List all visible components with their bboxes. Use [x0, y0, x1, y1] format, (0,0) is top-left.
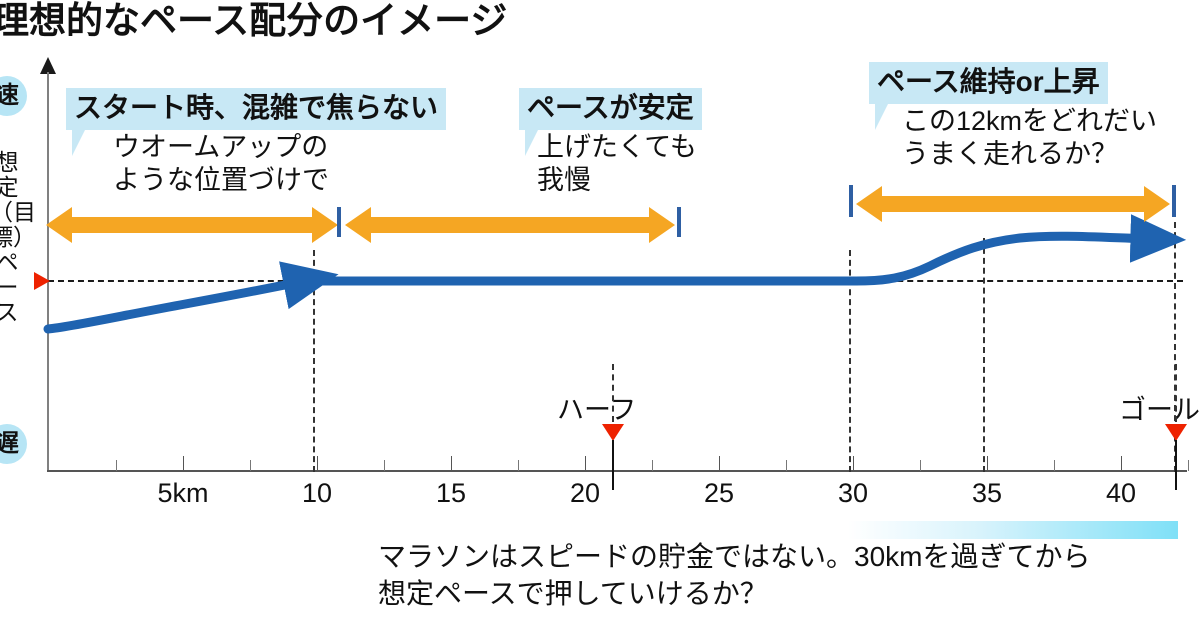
- x-axis-minor-tick: [786, 460, 787, 471]
- callout-maintain-body: この12kmをどれだい うまく走れるか？: [902, 105, 1200, 171]
- pace-chart-infographic: 理想的なペース配分のイメージ 速 遅 想定（目標）ペース 5km10152025…: [0, 0, 1200, 630]
- x-axis-tick: [451, 456, 452, 472]
- marker-stem-half: [612, 440, 614, 490]
- axis-badge-slow: 遅: [0, 424, 27, 464]
- x-axis-tick-label: 40: [1076, 478, 1166, 509]
- x-axis-tick: [317, 456, 318, 472]
- range-cap-goal: [1172, 185, 1176, 217]
- x-axis-tick-label: 5km: [138, 478, 228, 509]
- x-axis-minor-tick: [1188, 460, 1189, 471]
- marker-label-half: ハーフ: [557, 388, 636, 427]
- range-arrow-30km-to-goal: [856, 184, 1170, 224]
- x-axis-tick: [719, 456, 720, 472]
- callout-stable-body: 上げたくても 我慢: [537, 131, 697, 197]
- range-arrow-10km-to-23km: [345, 205, 675, 245]
- x-axis-tick: [183, 456, 184, 472]
- target-pace-marker-icon: [34, 272, 50, 290]
- callout-maintain-tail-icon: [875, 104, 888, 130]
- x-axis-tick-label: 10: [272, 478, 362, 509]
- x-axis-minor-tick: [384, 460, 385, 471]
- callout-start-body: ウオームアップの ような位置づけで: [113, 131, 329, 197]
- marker-stem-goal: [1175, 440, 1177, 490]
- x-axis-tick-label: 30: [808, 478, 898, 509]
- x-axis-minor-tick: [116, 460, 117, 471]
- page-title: 理想的なペース配分のイメージ: [0, 0, 692, 44]
- guide-10km: [313, 250, 315, 472]
- range-cap-30km: [849, 185, 853, 217]
- gradient-accent-bar: [848, 521, 1178, 539]
- chart-caption: マラソンはスピードの貯金ではない。30kmを過ぎてから 想定ペースで押していける…: [378, 538, 1200, 612]
- x-axis-minor-tick: [652, 460, 653, 471]
- callout-maintain-heading: ペース維持or上昇: [869, 62, 1108, 104]
- x-axis-tick: [853, 456, 854, 472]
- x-axis-minor-tick: [250, 460, 251, 471]
- x-axis-tick-label: 25: [674, 478, 764, 509]
- x-axis-minor-tick: [920, 460, 921, 471]
- range-cap-10km: [337, 207, 341, 237]
- axis-badge-fast: 速: [0, 76, 27, 116]
- callout-stable-heading: ペースが安定: [519, 88, 702, 130]
- guide-35km: [983, 238, 985, 472]
- callout-start-tail-icon: [72, 130, 85, 156]
- marker-label-goal: ゴール: [1119, 388, 1200, 427]
- x-axis-tick-label: 20: [540, 478, 630, 509]
- x-axis-minor-tick: [1054, 460, 1055, 471]
- x-axis-tick-label: 15: [406, 478, 496, 509]
- target-pace-line: [48, 280, 1183, 282]
- x-axis-line: [47, 470, 1187, 472]
- callout-stable: ペースが安定 上げたくても 我慢: [519, 88, 702, 156]
- range-cap-23km: [677, 207, 681, 237]
- marker-triangle-half: [602, 424, 624, 441]
- callout-start: スタート時、混雑で焦らない ウオームアップの ような位置づけで: [66, 88, 446, 156]
- marker-triangle-goal: [1165, 424, 1187, 441]
- range-arrow-start-to-10km: [46, 205, 338, 245]
- x-axis-minor-tick: [518, 460, 519, 471]
- marker-guide-half: [612, 364, 614, 422]
- x-axis-tick: [1121, 456, 1122, 472]
- marker-guide-goal: [1175, 364, 1177, 422]
- x-axis-tick: [585, 456, 586, 472]
- x-axis-tick-label: 35: [942, 478, 1032, 509]
- x-axis-tick: [987, 456, 988, 472]
- callout-start-heading: スタート時、混雑で焦らない: [66, 88, 446, 130]
- y-axis-label: 想定（目標）ペース: [0, 150, 24, 325]
- callout-maintain: ペース維持or上昇 この12kmをどれだい うまく走れるか？: [869, 62, 1108, 130]
- guide-30km: [849, 250, 851, 472]
